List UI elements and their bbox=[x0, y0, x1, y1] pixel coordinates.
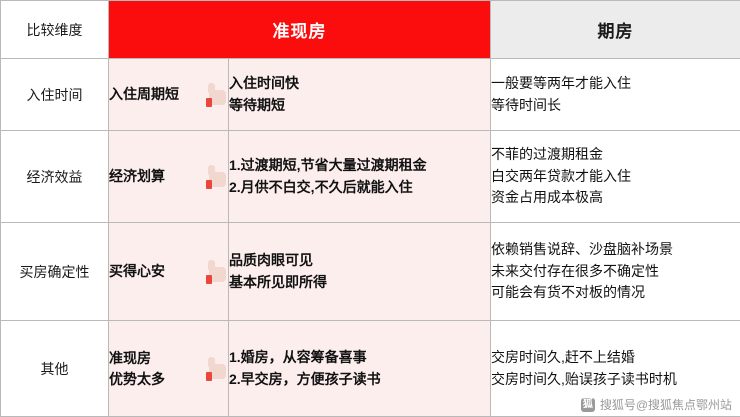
detail-line: 2.早交房，方便孩子读书 bbox=[229, 369, 490, 391]
header-future-house: 期房 bbox=[491, 1, 740, 59]
future-line: 可能会有货不对板的情况 bbox=[491, 282, 740, 304]
row-future-cell: 交房时间久,赶不上结婚 交房时间久,贻误孩子读书时机 bbox=[491, 321, 740, 417]
row-future-cell: 不菲的过渡期租金 白交两年贷款才能入住 资金占用成本极高 bbox=[491, 131, 740, 223]
future-line: 交房时间久,赶不上结婚 bbox=[491, 347, 740, 369]
row-tag-label: 经济划算 bbox=[109, 166, 165, 186]
table-row: 买房确定性 买得心安 品质肉眼可见 基本所见即所得 bbox=[1, 223, 740, 321]
row-tag-cell: 入住周期短 bbox=[109, 59, 229, 131]
thumbs-up-icon bbox=[206, 260, 228, 284]
row-dimension-move-in-time: 入住时间 bbox=[1, 59, 109, 131]
future-line: 不菲的过渡期租金 bbox=[491, 144, 740, 166]
future-line: 资金占用成本极高 bbox=[491, 187, 740, 209]
future-line: 白交两年贷款才能入住 bbox=[491, 166, 740, 188]
detail-line: 1.过渡期短,节省大量过渡期租金 bbox=[229, 155, 490, 177]
comparison-table: 比较维度 准现房 期房 入住时间 入住周期短 入住时间快 bbox=[0, 0, 740, 417]
thumbs-up-icon bbox=[206, 83, 228, 107]
thumbs-up-icon bbox=[206, 165, 228, 189]
detail-line: 2.月供不白交,不久后就能入住 bbox=[229, 177, 490, 199]
header-dimension: 比较维度 bbox=[1, 1, 109, 59]
detail-line: 入住时间快 bbox=[229, 73, 490, 95]
row-tag-label: 买得心安 bbox=[109, 261, 165, 281]
future-line: 等待时间长 bbox=[491, 95, 740, 117]
row-future-cell: 一般要等两年才能入住 等待时间长 bbox=[491, 59, 740, 131]
row-detail-cell: 1.婚房，从容筹备喜事 2.早交房，方便孩子读书 bbox=[229, 321, 491, 417]
row-future-cell: 依赖销售说辞、沙盘脑补场景 未来交付存在很多不确定性 可能会有货不对板的情况 bbox=[491, 223, 740, 321]
row-tag-label: 入住周期短 bbox=[109, 84, 179, 104]
row-tag-cell: 准现房 优势太多 bbox=[109, 321, 229, 417]
detail-line: 1.婚房，从容筹备喜事 bbox=[229, 347, 490, 369]
table-header-row: 比较维度 准现房 期房 bbox=[1, 1, 740, 59]
row-tag-cell: 经济划算 bbox=[109, 131, 229, 223]
future-line: 依赖销售说辞、沙盘脑补场景 bbox=[491, 239, 740, 261]
future-line: 交房时间久,贻误孩子读书时机 bbox=[491, 369, 740, 391]
table-row: 其他 准现房 优势太多 1.婚房，从容筹备喜事 2.早交房，方便孩子读书 bbox=[1, 321, 740, 417]
detail-line: 基本所见即所得 bbox=[229, 272, 490, 294]
row-detail-cell: 1.过渡期短,节省大量过渡期租金 2.月供不白交,不久后就能入住 bbox=[229, 131, 491, 223]
row-dimension-purchase-certainty: 买房确定性 bbox=[1, 223, 109, 321]
comparison-sheet: 比较维度 准现房 期房 入住时间 入住周期短 入住时间快 bbox=[0, 0, 740, 417]
detail-line: 等待期短 bbox=[229, 95, 490, 117]
row-tag-label: 准现房 优势太多 bbox=[109, 348, 165, 389]
detail-line: 品质肉眼可见 bbox=[229, 250, 490, 272]
row-dimension-economic-benefit: 经济效益 bbox=[1, 131, 109, 223]
row-tag-cell: 买得心安 bbox=[109, 223, 229, 321]
header-ready-house: 准现房 bbox=[109, 1, 491, 59]
row-dimension-other: 其他 bbox=[1, 321, 109, 417]
thumbs-up-icon bbox=[206, 357, 228, 381]
table-row: 经济效益 经济划算 1.过渡期短,节省大量过渡期租金 2.月供不白交,不久后就能… bbox=[1, 131, 740, 223]
future-line: 未来交付存在很多不确定性 bbox=[491, 261, 740, 283]
future-line: 一般要等两年才能入住 bbox=[491, 73, 740, 95]
row-detail-cell: 入住时间快 等待期短 bbox=[229, 59, 491, 131]
table-row: 入住时间 入住周期短 入住时间快 等待期短 bbox=[1, 59, 740, 131]
row-detail-cell: 品质肉眼可见 基本所见即所得 bbox=[229, 223, 491, 321]
